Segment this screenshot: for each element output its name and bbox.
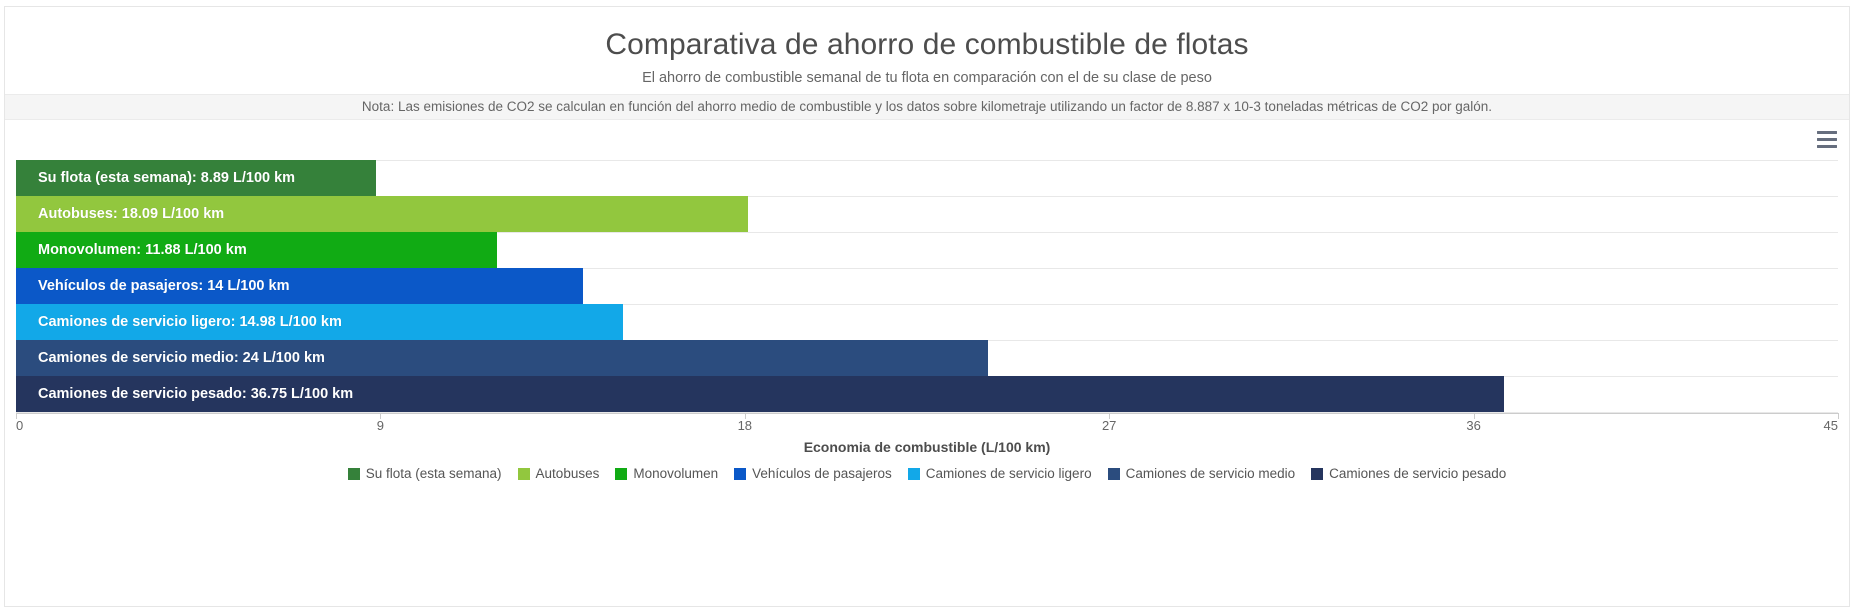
- legend-swatch-icon: [1311, 468, 1323, 480]
- bar-label: Camiones de servicio medio: 24 L/100 km: [16, 350, 325, 366]
- legend-item[interactable]: Vehículos de pasajeros: [734, 466, 892, 481]
- legend-label: Camiones de servicio ligero: [926, 466, 1092, 481]
- bar-label: Monovolumen: 11.88 L/100 km: [16, 242, 247, 258]
- legend-item[interactable]: Camiones de servicio medio: [1108, 466, 1296, 481]
- x-axis-tick-label: 36: [1466, 418, 1480, 433]
- x-axis-tick: [1838, 413, 1839, 419]
- bar[interactable]: Camiones de servicio ligero: 14.98 L/100…: [16, 304, 623, 340]
- chart-subtitle: El ahorro de combustible semanal de tu f…: [0, 70, 1854, 86]
- x-axis-tick-label: 9: [377, 418, 384, 433]
- chart-legend: Su flota (esta semana)AutobusesMonovolum…: [0, 466, 1854, 481]
- legend-swatch-icon: [518, 468, 530, 480]
- hamburger-menu-icon[interactable]: [1814, 126, 1840, 152]
- bar[interactable]: Camiones de servicio pesado: 36.75 L/100…: [16, 376, 1504, 412]
- legend-item[interactable]: Camiones de servicio pesado: [1311, 466, 1506, 481]
- legend-item[interactable]: Autobuses: [518, 466, 600, 481]
- legend-swatch-icon: [734, 468, 746, 480]
- fuel-economy-chart-page: Comparativa de ahorro de combustible de …: [0, 0, 1854, 611]
- x-axis-title: Economia de combustible (L/100 km): [0, 439, 1854, 455]
- x-axis-tick-label: 0: [16, 418, 23, 433]
- legend-swatch-icon: [615, 468, 627, 480]
- bar-row: Camiones de servicio medio: 24 L/100 km: [16, 340, 1838, 376]
- bar-row: Vehículos de pasajeros: 14 L/100 km: [16, 268, 1838, 304]
- legend-label: Camiones de servicio pesado: [1329, 466, 1506, 481]
- bar-label: Vehículos de pasajeros: 14 L/100 km: [16, 278, 289, 294]
- bar-label: Su flota (esta semana): 8.89 L/100 km: [16, 170, 295, 186]
- legend-label: Vehículos de pasajeros: [752, 466, 892, 481]
- x-axis-line: [16, 413, 1838, 414]
- bar-label: Camiones de servicio pesado: 36.75 L/100…: [16, 386, 353, 402]
- legend-label: Su flota (esta semana): [366, 466, 502, 481]
- page-title: Comparativa de ahorro de combustible de …: [0, 28, 1854, 62]
- bar[interactable]: Camiones de servicio medio: 24 L/100 km: [16, 340, 988, 376]
- bar-label: Camiones de servicio ligero: 14.98 L/100…: [16, 314, 342, 330]
- bar-row: Autobuses: 18.09 L/100 km: [16, 196, 1838, 232]
- legend-label: Monovolumen: [633, 466, 718, 481]
- bar-label: Autobuses: 18.09 L/100 km: [16, 206, 224, 222]
- bar[interactable]: Monovolumen: 11.88 L/100 km: [16, 232, 497, 268]
- note-text: Nota: Las emisiones de CO2 se calculan e…: [0, 99, 1854, 114]
- x-axis-tick-label: 27: [1102, 418, 1116, 433]
- bar[interactable]: Autobuses: 18.09 L/100 km: [16, 196, 748, 232]
- bar-row: Camiones de servicio ligero: 14.98 L/100…: [16, 304, 1838, 340]
- legend-swatch-icon: [1108, 468, 1120, 480]
- bar-row: Su flota (esta semana): 8.89 L/100 km: [16, 160, 1838, 196]
- plot-area: Su flota (esta semana): 8.89 L/100 kmAut…: [16, 160, 1838, 413]
- x-axis-tick-label: 18: [738, 418, 752, 433]
- bar[interactable]: Vehículos de pasajeros: 14 L/100 km: [16, 268, 583, 304]
- legend-swatch-icon: [908, 468, 920, 480]
- legend-swatch-icon: [348, 468, 360, 480]
- bar[interactable]: Su flota (esta semana): 8.89 L/100 km: [16, 160, 376, 196]
- legend-label: Camiones de servicio medio: [1126, 466, 1296, 481]
- legend-item[interactable]: Monovolumen: [615, 466, 718, 481]
- legend-item[interactable]: Su flota (esta semana): [348, 466, 502, 481]
- bar-row: Camiones de servicio pesado: 36.75 L/100…: [16, 376, 1838, 412]
- bar-row: Monovolumen: 11.88 L/100 km: [16, 232, 1838, 268]
- legend-item[interactable]: Camiones de servicio ligero: [908, 466, 1092, 481]
- legend-label: Autobuses: [536, 466, 600, 481]
- x-axis-tick-label: 45: [1824, 418, 1838, 433]
